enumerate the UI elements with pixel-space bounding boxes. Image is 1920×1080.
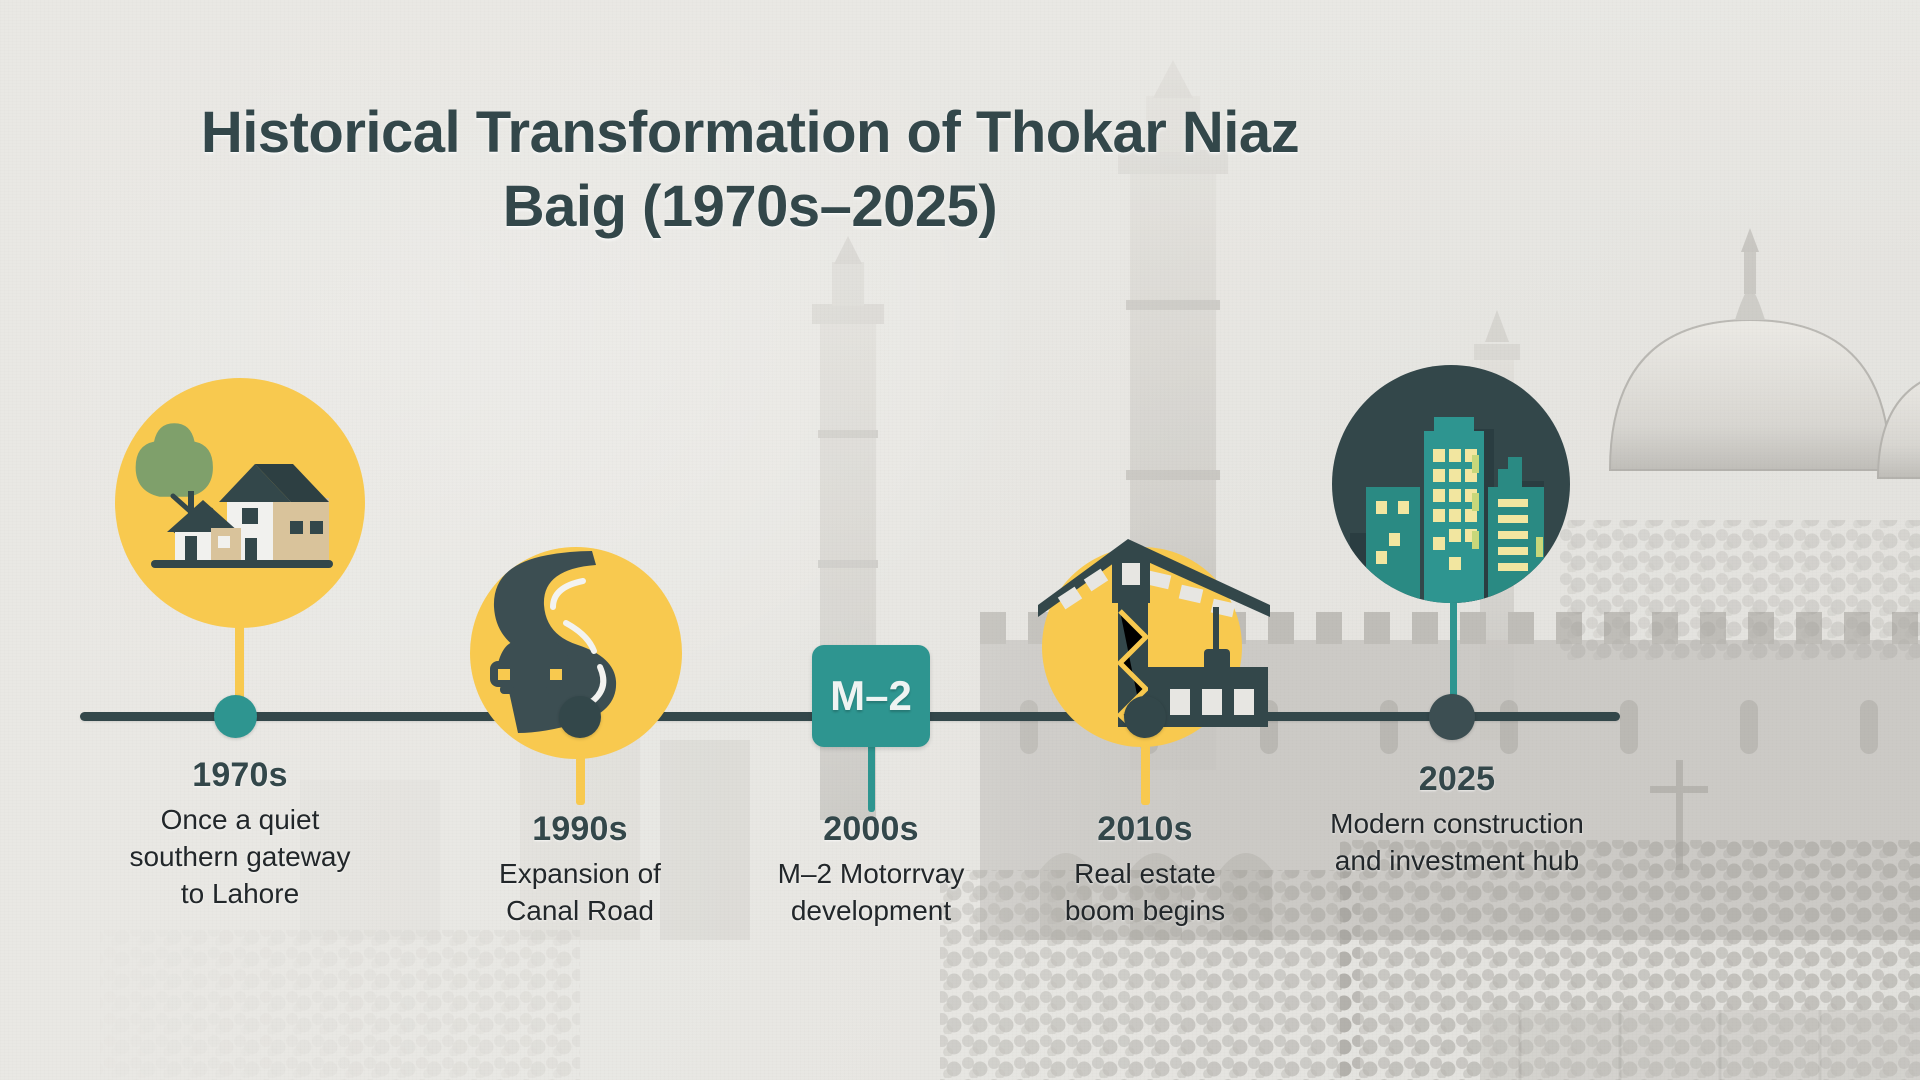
city-skyline-icon <box>1332 365 1570 603</box>
title-line-1: Historical Transformation of Thokar Niaz <box>0 96 1500 170</box>
caption-desc-line: boom begins <box>995 892 1295 929</box>
caption-desc-line: M–2 Motorrvay <box>706 855 1036 892</box>
caption-desc-line: development <box>706 892 1036 929</box>
timeline-dot-1990s[interactable] <box>559 696 601 738</box>
motorway-sign-label: M–2 <box>830 672 912 720</box>
construction-crane-icon <box>1020 487 1280 727</box>
caption-desc-line: Modern construction <box>1262 805 1652 842</box>
caption-desc-2000s: M–2 Motorrvay development <box>706 855 1036 929</box>
infographic-canvas: Historical Transformation of Thokar Niaz… <box>0 0 1920 1080</box>
caption-desc-2010s: Real estate boom begins <box>995 855 1295 929</box>
caption-2025: 2025 Modern construction and investment … <box>1262 760 1652 879</box>
caption-year-2010s: 2010s <box>995 810 1295 849</box>
caption-year-1970s: 1970s <box>60 756 420 795</box>
caption-1990s: 1990s Expansion of Canal Road <box>420 810 740 929</box>
timeline-dot-2025[interactable] <box>1429 694 1475 740</box>
caption-2010s: 2010s Real estate boom begins <box>995 810 1295 929</box>
icon-bubble-2000s[interactable]: M–2 <box>812 645 930 747</box>
village-houses-icon <box>115 378 365 628</box>
caption-desc-1970s: Once a quiet southern gateway to Lahore <box>60 801 420 913</box>
caption-desc-line: Canal Road <box>420 892 740 929</box>
car-glyph <box>490 641 570 694</box>
icon-bubble-2025[interactable] <box>1332 365 1570 603</box>
caption-year-2025: 2025 <box>1262 760 1652 799</box>
page-title: Historical Transformation of Thokar Niaz… <box>0 96 1500 244</box>
title-line-2: Baig (1970s–2025) <box>0 170 1500 244</box>
caption-desc-line: Real estate <box>995 855 1295 892</box>
timeline-dot-1970s[interactable] <box>214 695 257 738</box>
caption-desc-line: Expansion of <box>420 855 740 892</box>
caption-2000s: 2000s M–2 Motorrvay development <box>706 810 1036 929</box>
timeline-dot-2010s[interactable] <box>1124 696 1166 738</box>
caption-desc-line: Once a quiet <box>60 801 420 838</box>
caption-year-1990s: 1990s <box>420 810 740 849</box>
caption-year-2000s: 2000s <box>706 810 1036 849</box>
caption-desc-line: to Lahore <box>60 875 420 912</box>
caption-desc-line: and investment hub <box>1262 842 1652 879</box>
caption-desc-2025: Modern construction and investment hub <box>1262 805 1652 879</box>
caption-desc-1990s: Expansion of Canal Road <box>420 855 740 929</box>
caption-1970s: 1970s Once a quiet southern gateway to L… <box>60 756 420 913</box>
caption-desc-line: southern gateway <box>60 838 420 875</box>
icon-bubble-1970s[interactable] <box>115 378 365 628</box>
